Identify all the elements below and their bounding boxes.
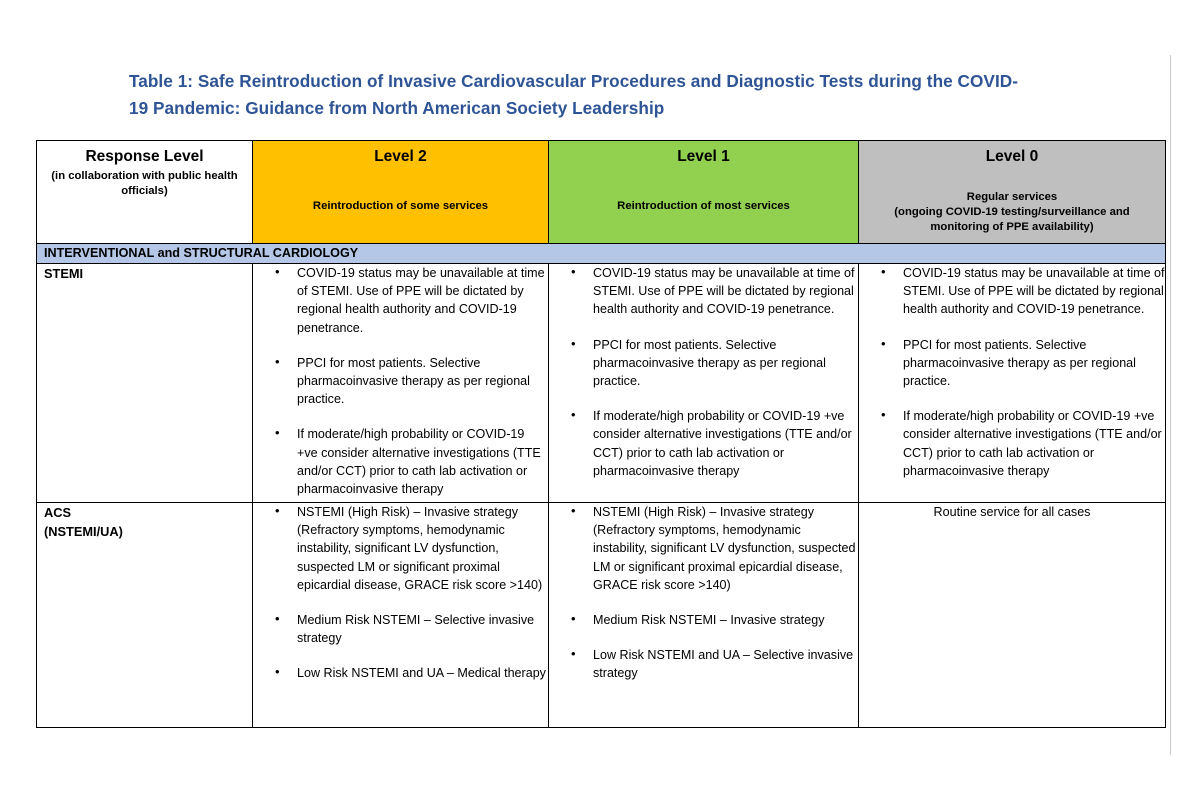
level-1-name: Level 1 bbox=[549, 141, 858, 167]
header-cell-level-0: Level 0 Regular services (ongoing COVID-… bbox=[859, 141, 1166, 244]
bullet-list: COVID-19 status may be unavailable at ti… bbox=[549, 264, 858, 480]
list-item: Medium Risk NSTEMI – Selective invasive … bbox=[275, 611, 548, 647]
table-header-row: Response Level (in collaboration with pu… bbox=[37, 141, 1166, 244]
guidance-table: Response Level (in collaboration with pu… bbox=[36, 140, 1166, 728]
list-item: Low Risk NSTEMI and UA – Medical therapy bbox=[275, 664, 548, 682]
routine-service-note: Routine service for all cases bbox=[859, 503, 1165, 521]
level-0-name: Level 0 bbox=[859, 141, 1165, 167]
list-item: PPCI for most patients. Selective pharma… bbox=[881, 336, 1165, 391]
table-row: STEMI COVID-19 status may be unavailable… bbox=[37, 264, 1166, 503]
list-item: Low Risk NSTEMI and UA – Selective invas… bbox=[571, 646, 858, 682]
level-0-description: Regular services (ongoing COVID-19 testi… bbox=[859, 190, 1165, 235]
row-label-acs: ACS (NSTEMI/UA) bbox=[37, 503, 253, 728]
row-label-stemi: STEMI bbox=[37, 264, 253, 503]
section-header-row: INTERVENTIONAL and STRUCTURAL CARDIOLOGY bbox=[37, 244, 1166, 264]
cell-stemi-level-0: COVID-19 status may be unavailable at ti… bbox=[859, 264, 1166, 503]
list-item: Medium Risk NSTEMI – Invasive strategy bbox=[571, 611, 858, 629]
row-label-acs-line1: ACS bbox=[37, 503, 252, 522]
header-cell-response-level: Response Level (in collaboration with pu… bbox=[37, 141, 253, 244]
bullet-list: COVID-19 status may be unavailable at ti… bbox=[253, 264, 548, 498]
header-cell-level-1: Level 1 Reintroduction of most services bbox=[549, 141, 859, 244]
header-cell-level-2: Level 2 Reintroduction of some services bbox=[253, 141, 549, 244]
list-item: NSTEMI (High Risk) – Invasive strategy (… bbox=[275, 503, 548, 594]
list-item: COVID-19 status may be unavailable at ti… bbox=[571, 264, 858, 319]
list-item: If moderate/high probability or COVID-19… bbox=[571, 407, 858, 480]
response-level-title: Response Level bbox=[49, 147, 240, 167]
table-row: ACS (NSTEMI/UA) NSTEMI (High Risk) – Inv… bbox=[37, 503, 1166, 728]
bullet-list: NSTEMI (High Risk) – Invasive strategy (… bbox=[253, 503, 548, 683]
level-2-name: Level 2 bbox=[253, 141, 548, 167]
row-label-acs-line2: (NSTEMI/UA) bbox=[37, 522, 252, 541]
list-item: PPCI for most patients. Selective pharma… bbox=[275, 354, 548, 409]
document-page: Table 1: Safe Reintroduction of Invasive… bbox=[0, 0, 1200, 800]
bullet-list: COVID-19 status may be unavailable at ti… bbox=[859, 264, 1165, 480]
bullet-list: NSTEMI (High Risk) – Invasive strategy (… bbox=[549, 503, 858, 683]
section-label: INTERVENTIONAL and STRUCTURAL CARDIOLOGY bbox=[37, 244, 1165, 263]
section-header-cell: INTERVENTIONAL and STRUCTURAL CARDIOLOGY bbox=[37, 244, 1166, 264]
list-item: COVID-19 status may be unavailable at ti… bbox=[881, 264, 1165, 319]
response-level-subtitle: (in collaboration with public health off… bbox=[49, 169, 240, 198]
page-title: Table 1: Safe Reintroduction of Invasive… bbox=[129, 68, 1034, 122]
cell-acs-level-0: Routine service for all cases bbox=[859, 503, 1166, 728]
list-item: PPCI for most patients. Selective pharma… bbox=[571, 336, 858, 391]
level-2-description: Reintroduction of some services bbox=[253, 199, 548, 214]
level-1-description: Reintroduction of most services bbox=[549, 199, 858, 214]
cell-acs-level-2: NSTEMI (High Risk) – Invasive strategy (… bbox=[253, 503, 549, 728]
list-item: NSTEMI (High Risk) – Invasive strategy (… bbox=[571, 503, 858, 594]
list-item: If moderate/high probability or COVID-19… bbox=[881, 407, 1165, 480]
page-margin-guide bbox=[1170, 55, 1171, 755]
cell-stemi-level-2: COVID-19 status may be unavailable at ti… bbox=[253, 264, 549, 503]
cell-acs-level-1: NSTEMI (High Risk) – Invasive strategy (… bbox=[549, 503, 859, 728]
list-item: COVID-19 status may be unavailable at ti… bbox=[275, 264, 548, 337]
cell-stemi-level-1: COVID-19 status may be unavailable at ti… bbox=[549, 264, 859, 503]
list-item: If moderate/high probability or COVID-19… bbox=[275, 425, 548, 498]
